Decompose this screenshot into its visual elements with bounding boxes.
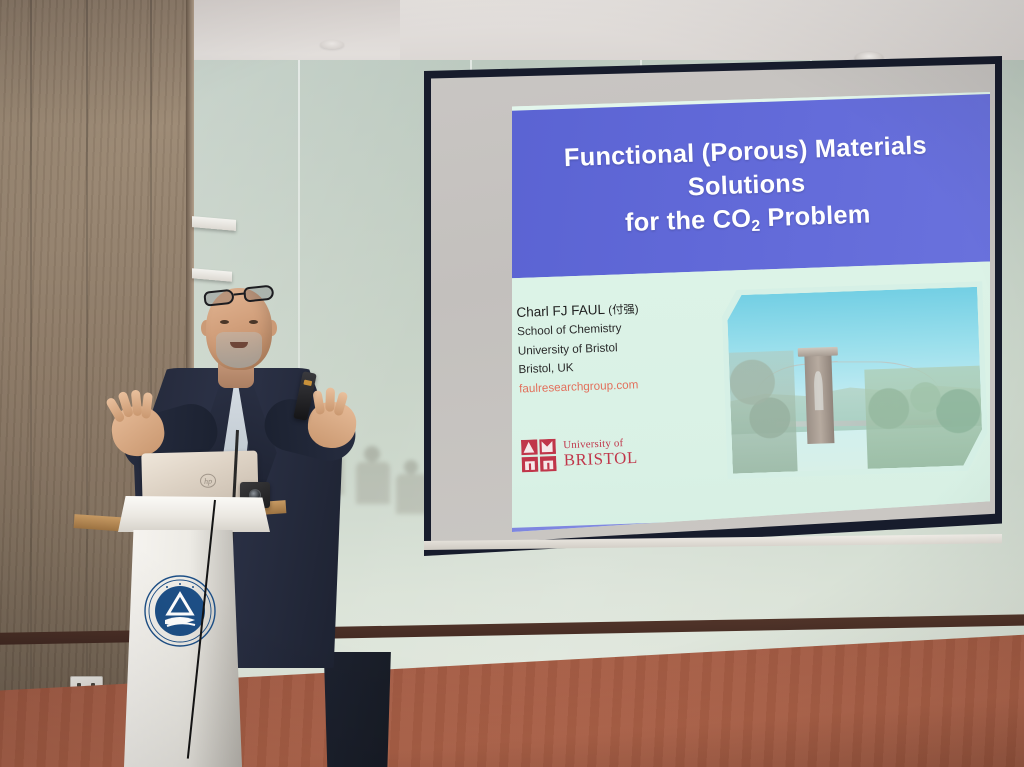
presenter-eye-right	[249, 320, 258, 324]
presenter-details: Charl FJ FAUL (付强) School of Chemistry U…	[516, 295, 708, 399]
presentation-photo-scene: Functional (Porous) Materials Solutions …	[0, 0, 1024, 767]
ceiling-downlight-left	[320, 40, 344, 49]
presenter-name: Charl FJ FAUL	[516, 302, 605, 320]
university-of-bristol-logo: University of BRISTOL	[521, 436, 638, 472]
projection-screen: Functional (Porous) Materials Solutions …	[424, 56, 1002, 556]
podium-top-surface	[118, 496, 270, 532]
clifton-suspension-bridge-photo	[727, 287, 984, 474]
presenter-beard	[216, 332, 262, 368]
podium-shading	[124, 530, 242, 767]
bristol-logo-text: University of BRISTOL	[563, 438, 638, 469]
slide-photo-frame	[721, 281, 989, 479]
slide-title-line2-post: Problem	[760, 199, 871, 231]
slide-title-line2-pre: for the CO	[625, 203, 752, 235]
slide-title-band: Functional (Porous) Materials Solutions …	[512, 94, 990, 279]
bristol-logo-line2: BRISTOL	[564, 450, 639, 469]
slide-title: Functional (Porous) Materials Solutions …	[512, 126, 990, 246]
presenter-eye-left	[220, 320, 229, 324]
bristol-crest-icon	[521, 439, 557, 473]
presenter-name-chinese: (付强)	[608, 303, 639, 317]
slide-title-line1: Functional (Porous) Materials Solutions	[563, 131, 927, 200]
slide-body: Charl FJ FAUL (付强) School of Chemistry U…	[512, 261, 990, 532]
presenter-legs	[316, 652, 394, 767]
projected-slide: Functional (Porous) Materials Solutions …	[512, 92, 990, 532]
hp-logo-icon: hp	[200, 474, 216, 488]
